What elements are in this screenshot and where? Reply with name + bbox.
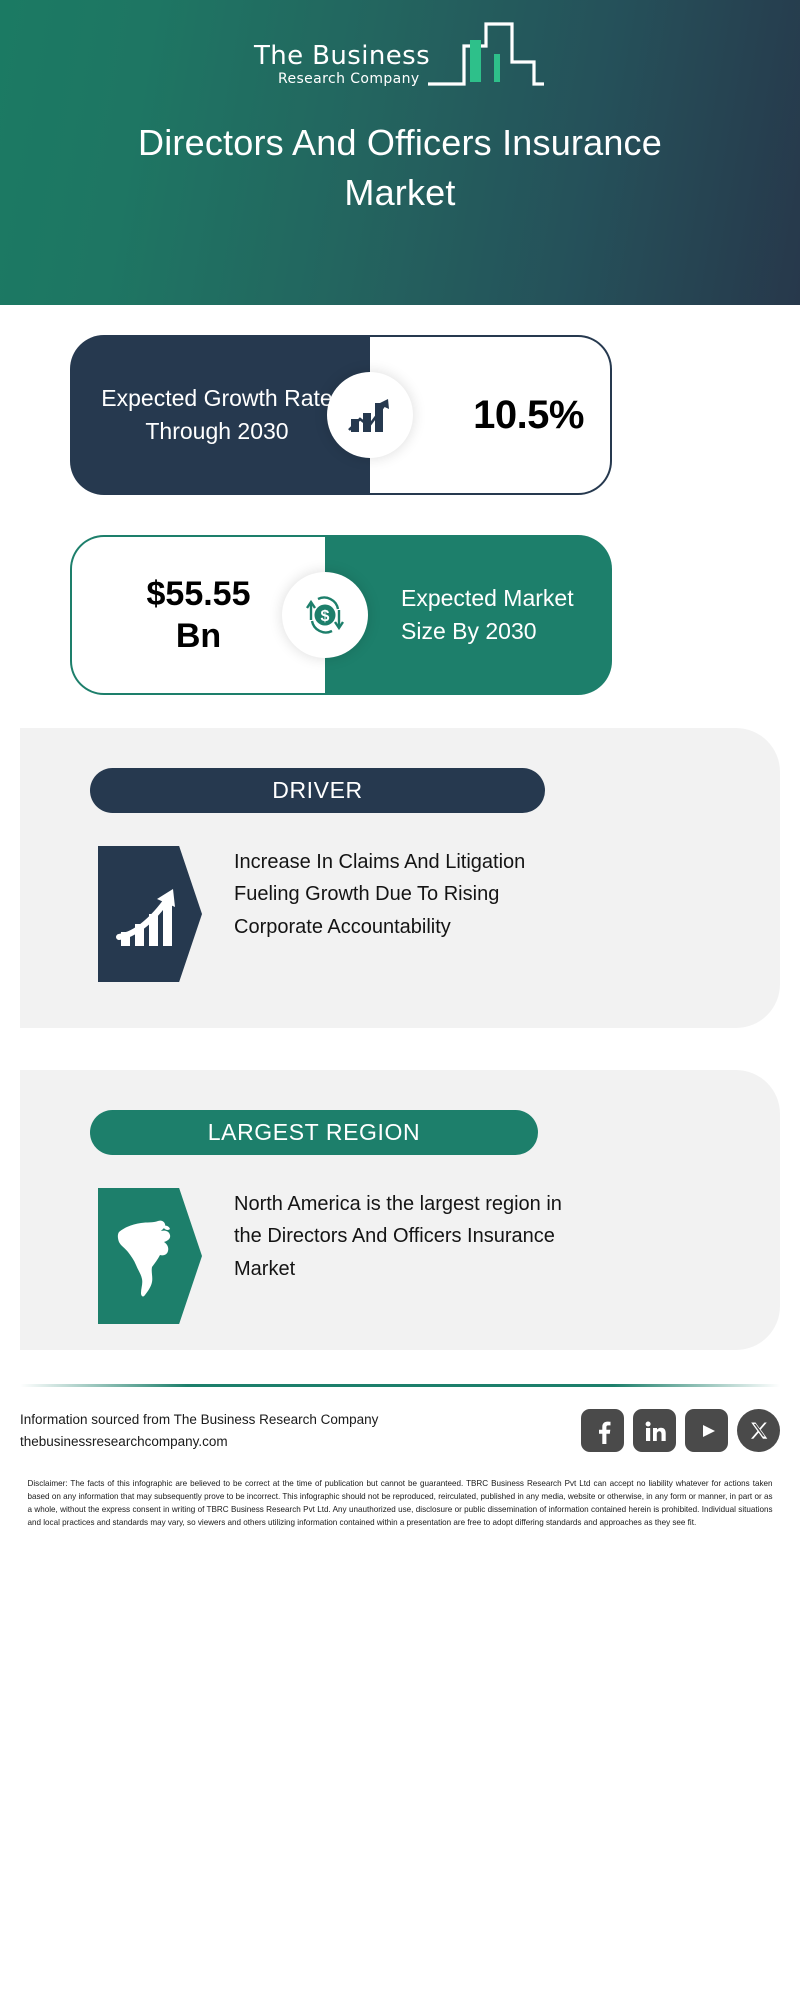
market-label-block: Expected Market Size By 2030 [325, 535, 612, 695]
footer-source: Information sourced from The Business Re… [20, 1409, 378, 1453]
north-america-map-icon [113, 1206, 187, 1306]
header-banner: The Business Research Company Directors … [0, 0, 800, 305]
facebook-icon[interactable] [581, 1409, 624, 1452]
company-logo: The Business Research Company [254, 20, 546, 92]
linkedin-icon[interactable] [633, 1409, 676, 1452]
growth-chart-arrow-icon [113, 877, 187, 951]
page-title: Directors And Officers Insurance Market [80, 118, 720, 217]
driver-icon-shape [98, 846, 202, 982]
stat-cards-band: Expected Growth Rate Through 2030 10.5% … [0, 330, 800, 700]
driver-pill: DRIVER [90, 768, 545, 813]
region-text: North America is the largest region in t… [234, 1188, 564, 1285]
driver-text: Increase In Claims And Litigation Fuelin… [234, 846, 564, 943]
footer-source-line2[interactable]: thebusinessresearchcompany.com [20, 1431, 378, 1453]
growth-label-block: Expected Growth Rate Through 2030 [70, 335, 370, 495]
youtube-icon[interactable] [685, 1409, 728, 1452]
region-icon-shape [98, 1188, 202, 1324]
logo-text: The Business Research Company [254, 43, 430, 92]
svg-text:$: $ [321, 608, 330, 625]
market-value-unit: Bn [176, 615, 221, 658]
panel-driver: DRIVER Increase In Claims And Litigation… [20, 728, 780, 1028]
footer-divider [20, 1384, 780, 1387]
growth-label: Expected Growth Rate Through 2030 [70, 382, 370, 447]
region-pill-label: LARGEST REGION [208, 1119, 420, 1146]
market-label: Expected Market Size By 2030 [401, 582, 612, 647]
logo-primary-text: The Business [254, 43, 430, 70]
footer-source-line1: Information sourced from The Business Re… [20, 1409, 378, 1431]
driver-pill-label: DRIVER [272, 777, 363, 804]
bar-chart-growth-arrow-icon [344, 389, 396, 441]
footer: Information sourced from The Business Re… [20, 1409, 780, 1453]
driver-body: Increase In Claims And Litigation Fuelin… [98, 846, 564, 982]
logo-secondary-text: Research Company [254, 70, 420, 88]
market-icon-badge: $ [282, 572, 368, 658]
bar-chart-logo-mark [426, 18, 546, 90]
market-value-primary: $55.55 [147, 573, 251, 616]
dollar-circular-arrows-icon: $ [298, 588, 352, 642]
growth-value: 10.5% [473, 393, 584, 438]
x-twitter-icon[interactable] [737, 1409, 780, 1452]
region-body: North America is the largest region in t… [98, 1188, 564, 1324]
region-pill: LARGEST REGION [90, 1110, 538, 1155]
stat-card-expected-growth-rate: Expected Growth Rate Through 2030 10.5% [30, 330, 770, 500]
growth-icon-badge [327, 372, 413, 458]
social-links [581, 1409, 780, 1452]
panel-largest-region: LARGEST REGION North America is the larg… [20, 1070, 780, 1350]
stat-card-expected-market-size: $55.55 Bn Expected Market Size By 2030 $ [30, 530, 770, 700]
disclaimer-text: Disclaimer: The facts of this infographi… [28, 1477, 773, 1529]
